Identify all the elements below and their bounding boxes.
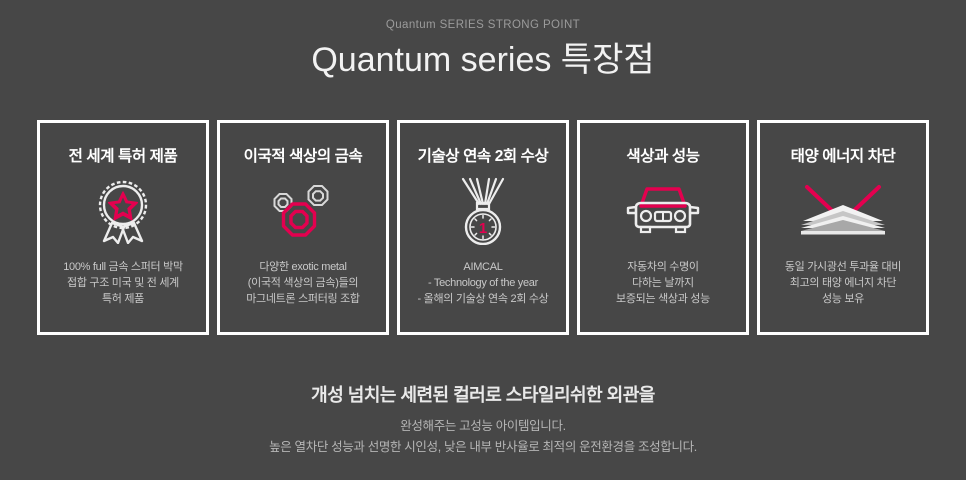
footer-line-3: 높은 열차단 성능과 선명한 시인성, 낮은 내부 반사율로 최적의 운전환경을… [0,437,966,458]
feature-card-exotic-metal[interactable]: 이국적 색상의 금속 [217,120,389,335]
feature-card-patent[interactable]: 전 세계 특허 제품 100% full 금속 스퍼터 박막 접합 구조 미국 … [37,120,209,335]
page-footer: 개성 넘치는 세련된 컬러로 스타일리쉬한 외관을 완성해주는 고성능 아이템입… [0,382,966,458]
card-title: 태양 에너지 차단 [791,147,896,167]
feature-card-solar-block[interactable]: 태양 에너지 차단 동일 가시광선 투과율 대비 최고의 태양 에너지 차단 성… [757,120,929,335]
award-rosette-icon [92,177,154,245]
card-title: 이국적 색상의 금속 [244,147,363,167]
promo-page: Quantum SERIES STRONG POINT Quantum seri… [0,0,966,480]
feature-card-color-performance[interactable]: 색상과 성능 [577,120,749,335]
medal-icon: 1 [454,177,512,245]
footer-line-2: 완성해주는 고성능 아이템입니다. [0,416,966,437]
card-body: AIMCAL - Technology of the year - 올해의 기술… [418,259,549,307]
card-body: 동일 가시광선 투과율 대비 최고의 태양 에너지 차단 성능 보유 [785,259,901,307]
page-header: Quantum SERIES STRONG POINT Quantum seri… [0,0,966,82]
eyebrow-text: Quantum SERIES STRONG POINT [0,18,966,32]
svg-text:1: 1 [479,220,487,237]
card-body: 100% full 금속 스퍼터 박막 접합 구조 미국 및 전 세계 특허 제… [63,259,183,307]
page-title: Quantum series 특장점 [0,38,966,82]
card-body: 자동차의 수명이 다하는 날까지 보증되는 색상과 성능 [616,259,710,307]
card-title: 전 세계 특허 제품 [69,147,178,167]
card-body: 다양한 exotic metal (이국적 색상의 금속)들의 마그네트론 스퍼… [246,259,360,307]
card-title: 기술상 연속 2회 수상 [418,147,549,167]
feature-card-award[interactable]: 기술상 연속 2회 수상 [397,120,569,335]
card-title: 색상과 성능 [626,147,699,167]
footer-lead-text: 개성 넘치는 세련된 컬러로 스타일리쉬한 외관을 [0,382,966,408]
gemstones-icon [265,177,341,245]
solar-block-layers-icon [799,177,887,245]
car-front-icon [620,177,706,245]
feature-card-row: 전 세계 특허 제품 100% full 금속 스퍼터 박막 접합 구조 미국 … [0,120,966,335]
